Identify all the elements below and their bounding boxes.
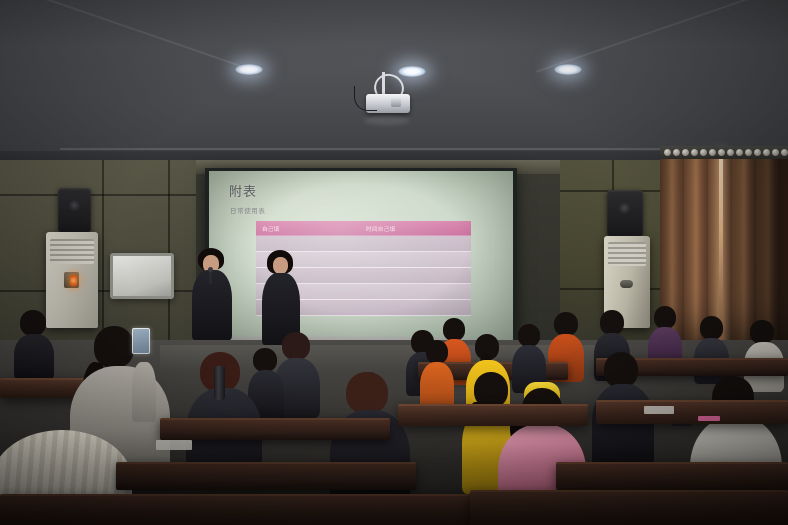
bench-row-front [116,462,416,490]
projector-pole [382,72,385,96]
projector-light-halo [364,116,410,125]
downlight-left-icon [235,64,263,75]
ceiling-projector [358,72,414,114]
desk-row [398,404,588,426]
paper-on-desk [644,406,674,414]
pink-item-on-desk [698,416,720,421]
raised-arm [132,362,156,422]
panel-line [0,194,196,196]
presenter-torso [192,270,232,340]
desk-row-front [556,462,788,490]
slide-table-header-cell-2: 时间自己填 [366,225,396,233]
wall-speaker-right [607,190,643,236]
presenter-face [273,257,288,274]
wall-whiteboard [110,253,174,299]
paper-on-desk [156,440,192,450]
bench-row [160,418,390,440]
slide-table-row [256,236,471,252]
slide-table-header-cell-1: 自己填 [262,225,280,233]
projector-lens-icon [391,97,401,107]
desk-row [596,400,788,424]
projector-cable [354,86,377,111]
phone-camera[interactable] [132,328,150,354]
projection-screen: 附表 日常使用表 自己填 时间自己填 [209,171,513,343]
speaker-cone-icon [619,203,631,215]
presentation-room-photo: 附表 日常使用表 自己填 时间自己填 [0,0,788,525]
ac-vent-grille [50,239,94,264]
slide-title: 附表 [229,181,257,200]
desk-row-foreground-right [470,490,788,525]
slide-subtitle: 日常使用表 [230,205,266,215]
thermos-bottle [214,366,225,400]
pen-on-desk [672,424,692,426]
ceiling-seam-left [0,0,252,70]
speaker-cone-icon [69,201,80,212]
microphone-icon [209,271,212,284]
ac-vent-grille [608,242,647,266]
floor-air-conditioner-left[interactable] [46,232,98,328]
ac-handle [620,280,634,287]
ceiling-seam-right [536,0,788,72]
wall-speaker-left [58,188,91,232]
slide-table-header-row: 自己填 时间自己填 [256,221,471,236]
desk-row-foreground [0,494,470,525]
downlight-right-icon [554,64,582,75]
curtain-rail [660,146,788,159]
ac-power-led-icon [70,275,77,286]
